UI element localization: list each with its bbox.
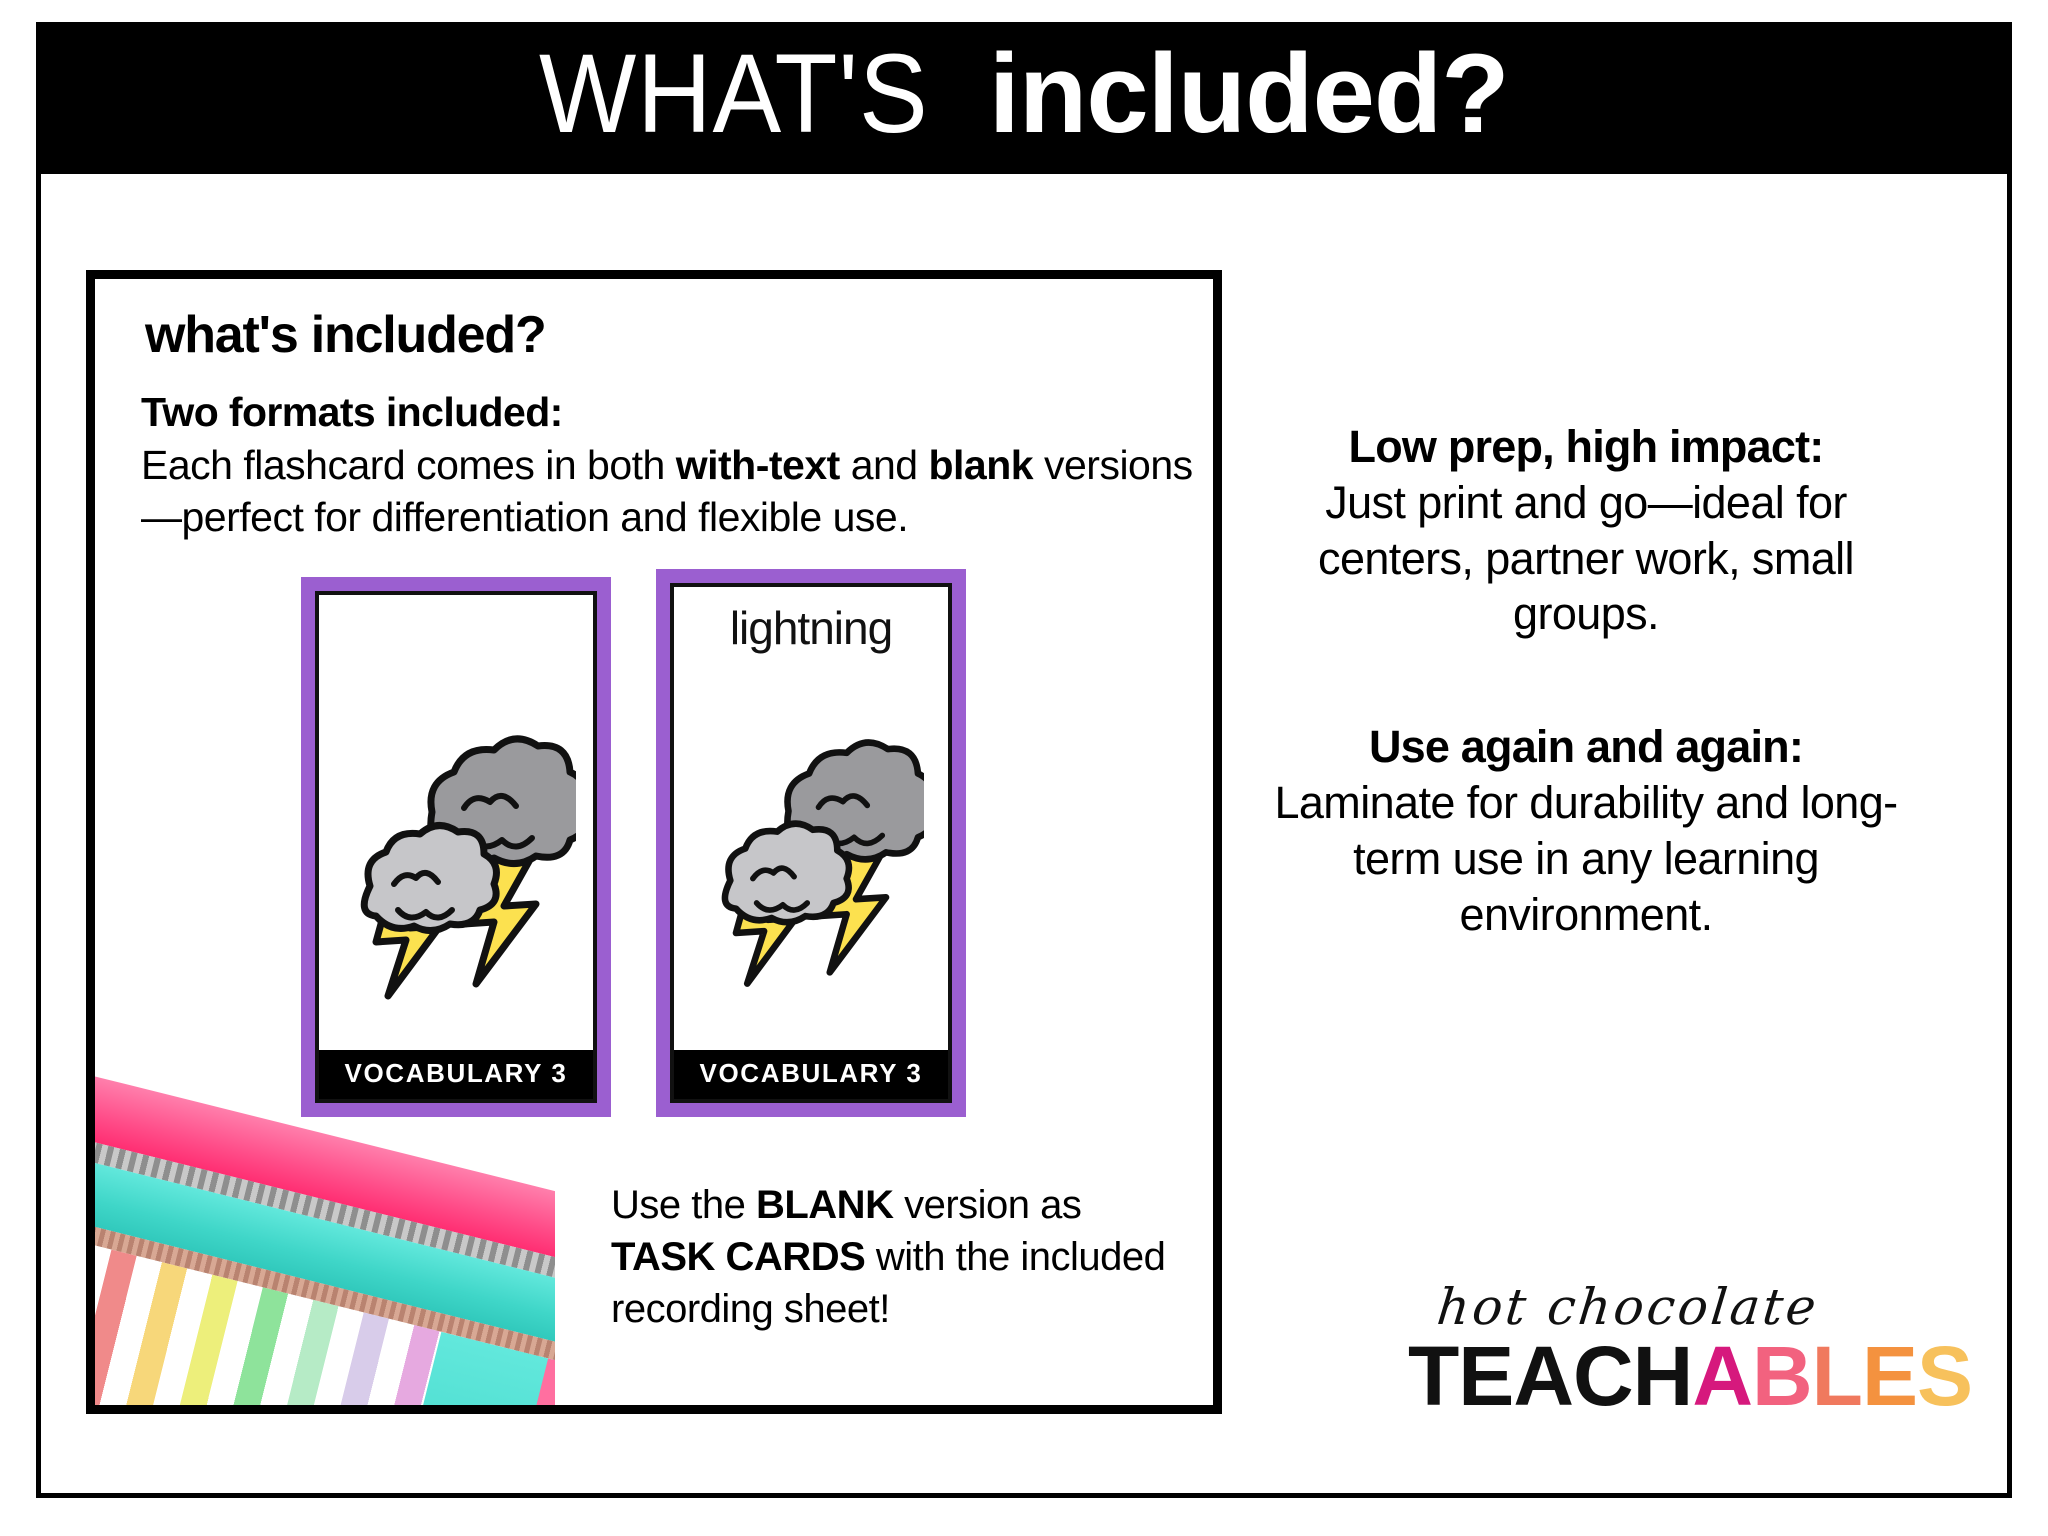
whats-included-panel: what's included? Two formats included: E… — [86, 270, 1222, 1414]
panel-body-mid: and — [840, 442, 929, 488]
panel-heading: what's included? — [145, 305, 546, 365]
logo-script-text: hot chocolate — [1405, 1282, 1850, 1332]
logo-letter-a: A — [1692, 1334, 1752, 1418]
flashcard-with-text[interactable]: lightning — [656, 569, 966, 1117]
benefits-column: Low prep, high impact: Just print and go… — [1262, 420, 1910, 1021]
panel-body-bold-with-text: with-text — [676, 442, 840, 488]
page-title: WHAT'S included? — [539, 38, 1508, 150]
panel-subheading: Two formats included: — [141, 389, 1201, 436]
logo-wordmark: TEACHABLES — [1408, 1334, 1848, 1418]
note-bold-blank: BLANK — [756, 1183, 893, 1227]
logo-letter-l: L — [1812, 1334, 1862, 1418]
storm-cloud-lightning-icon — [319, 671, 593, 1050]
page-title-thin: WHAT'S — [539, 38, 929, 150]
benefit-heading: Low prep, high impact: — [1262, 420, 1910, 475]
page-title-bold: included? — [989, 38, 1509, 150]
note-mid: version as — [893, 1183, 1081, 1227]
header-banner: WHAT'S included? — [36, 22, 2012, 174]
flashcard-word-label: lightning — [674, 587, 948, 663]
storm-cloud-lightning-icon — [674, 663, 948, 1050]
note-bold-task-cards: TASK CARDS — [611, 1235, 865, 1279]
slide-canvas: WHAT'S included? what's included? Two fo… — [0, 0, 2048, 1536]
flashcard-with-text-inner: lightning — [670, 583, 952, 1103]
benefit-heading: Use again and again: — [1262, 720, 1910, 775]
pencil-pouch-photo — [86, 1019, 555, 1414]
logo-teach: TEACH — [1408, 1334, 1692, 1418]
panel-body-text: Each flashcard comes in both with-text a… — [141, 439, 1209, 544]
logo-letter-e: E — [1862, 1334, 1917, 1418]
benefit-text: Just print and go—ideal for centers, par… — [1262, 475, 1910, 642]
benefit-block-reuse: Use again and again: Laminate for durabi… — [1262, 720, 1910, 942]
flashcard-with-text-footer: VOCABULARY 3 — [674, 1050, 948, 1099]
brand-logo: hot chocolate TEACHABLES — [1408, 1282, 1848, 1418]
pencil-pouch-stack — [86, 1059, 555, 1414]
panel-body-bold-blank: blank — [929, 442, 1034, 488]
note-prefix: Use the — [611, 1183, 756, 1227]
benefit-block-low-prep: Low prep, high impact: Just print and go… — [1262, 420, 1910, 642]
task-cards-note: Use the BLANK version as TASK CARDS with… — [611, 1179, 1191, 1335]
logo-letter-s: S — [1917, 1334, 1972, 1418]
logo-ables: ABLES — [1692, 1334, 1972, 1418]
panel-body-prefix: Each flashcard comes in both — [141, 442, 676, 488]
logo-letter-b: B — [1752, 1334, 1812, 1418]
benefit-text: Laminate for durability and long-term us… — [1262, 775, 1910, 942]
